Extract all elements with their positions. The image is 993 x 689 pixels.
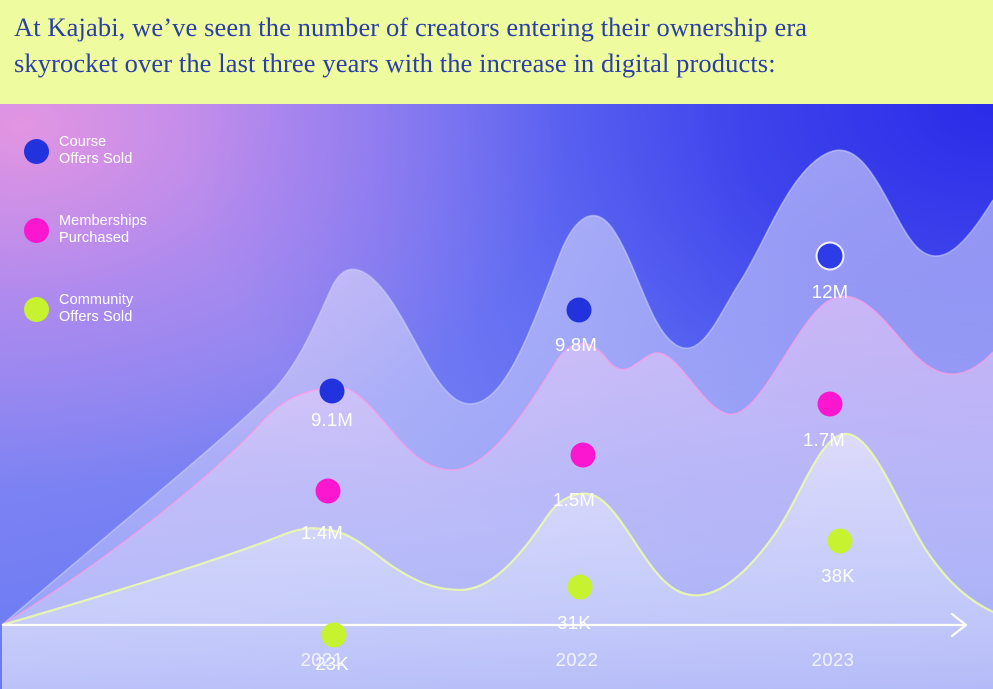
data-label-community-2023: 38K [821, 565, 855, 587]
data-label-course-2023: 12M [812, 281, 849, 303]
header-banner: At Kajabi, we’ve seen the number of crea… [0, 0, 993, 104]
legend-dot-community-icon [24, 297, 49, 322]
data-point-memberships-2021[interactable] [316, 479, 341, 504]
data-point-community-2023[interactable] [828, 529, 853, 554]
legend-dot-course-icon [24, 139, 49, 164]
data-label-memberships-2021: 1.4M [301, 522, 343, 544]
data-point-community-2022[interactable] [568, 575, 593, 600]
data-point-community-2021[interactable] [322, 623, 347, 648]
x-axis-tick-2021: 2021 [301, 649, 344, 671]
legend: Course Offers Sold Memberships Purchased… [24, 134, 234, 371]
legend-item-community-offers-sold[interactable]: Community Offers Sold [24, 292, 234, 326]
x-axis-tick-2023: 2023 [812, 649, 855, 671]
legend-label-course: Course Offers Sold [59, 134, 132, 168]
legend-item-memberships-purchased[interactable]: Memberships Purchased [24, 213, 234, 247]
header-headline: At Kajabi, we’ve seen the number of crea… [14, 9, 979, 81]
data-point-course-2021[interactable] [320, 379, 345, 404]
data-label-memberships-2023: 1.7M [803, 429, 845, 451]
data-point-memberships-2023[interactable] [818, 392, 843, 417]
data-label-course-2021: 9.1M [311, 409, 353, 431]
data-label-memberships-2022: 1.5M [553, 489, 595, 511]
chart-panel: Course Offers Sold Memberships Purchased… [0, 104, 993, 689]
infographic-root: At Kajabi, we’ve seen the number of crea… [0, 0, 993, 689]
legend-label-community: Community Offers Sold [59, 292, 133, 326]
data-point-course-2023[interactable] [818, 244, 843, 269]
data-point-memberships-2022[interactable] [571, 443, 596, 468]
legend-dot-memberships-icon [24, 218, 49, 243]
data-point-course-2022[interactable] [567, 298, 592, 323]
data-label-course-2022: 9.8M [555, 334, 597, 356]
legend-label-memberships: Memberships Purchased [59, 213, 147, 247]
legend-item-course-offers-sold[interactable]: Course Offers Sold [24, 134, 234, 168]
data-label-community-2022: 31K [557, 612, 591, 634]
x-axis-tick-2022: 2022 [556, 649, 599, 671]
